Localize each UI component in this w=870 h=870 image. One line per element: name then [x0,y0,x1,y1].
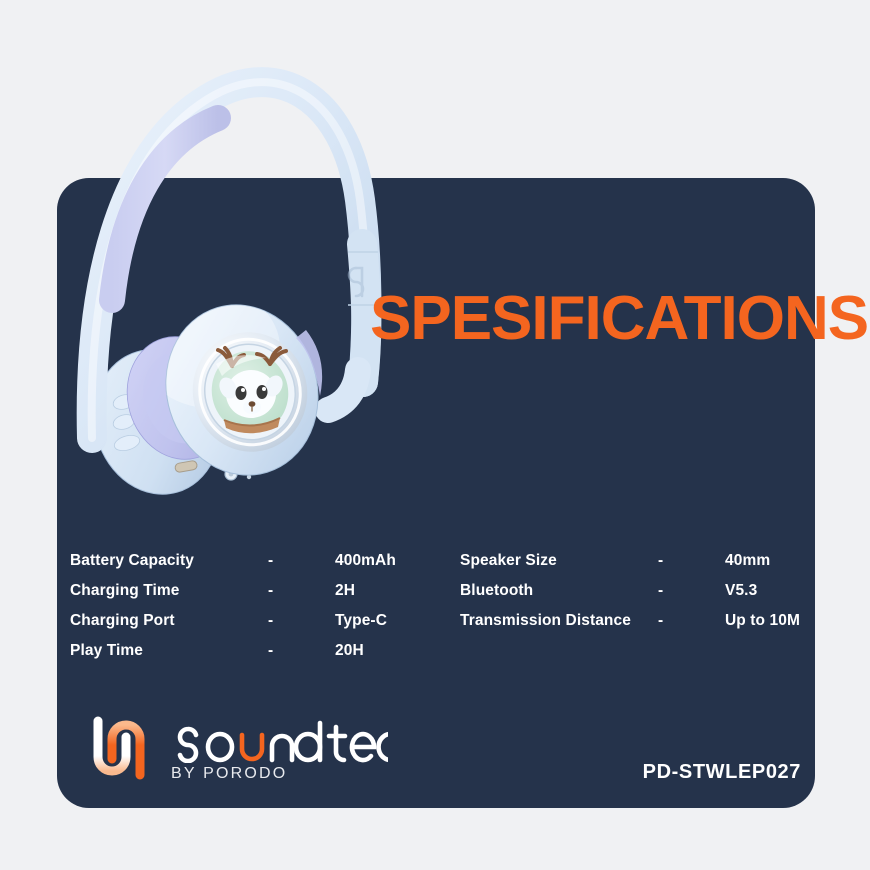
spec-row: Play Time - 20H [70,642,460,672]
spec-label: Battery Capacity [70,552,268,570]
spec-label: Charging Port [70,612,268,630]
soundtec-monogram-icon [88,713,150,783]
spec-label: Transmission Distance [460,612,658,630]
spec-column-left: Battery Capacity - 400mAh Charging Time … [70,552,460,672]
spec-label: Speaker Size [460,552,658,570]
spec-value: 2H [335,582,355,600]
spec-value: Type-C [335,612,387,630]
spec-row: Charging Time - 2H [70,582,460,612]
spec-row: Charging Port - Type-C [70,612,460,642]
spec-row: Bluetooth - V5.3 [460,582,810,612]
spec-separator: - [658,582,725,600]
spec-row: Battery Capacity - 400mAh [70,552,460,582]
spec-value: 40mm [725,552,770,570]
spec-column-right: Speaker Size - 40mm Bluetooth - V5.3 Tra… [460,552,810,642]
spec-value: 20H [335,642,364,660]
product-spec-poster: SPESIFICATIONS Battery Capacity - 400mAh… [0,0,870,870]
spec-label: Charging Time [70,582,268,600]
spec-row: Transmission Distance - Up to 10M [460,612,810,642]
brand-lockup: BY PORODO [88,713,388,783]
spec-separator: - [268,582,335,600]
spec-value: V5.3 [725,582,757,600]
model-number: PD-STWLEP027 [643,761,801,784]
spec-separator: - [658,612,725,630]
spec-separator: - [268,642,335,660]
spec-label: Bluetooth [460,582,658,600]
spec-separator: - [268,552,335,570]
brand-text: BY PORODO [168,717,388,783]
spec-separator: - [268,612,335,630]
page-title: SPESIFICATIONS [370,288,868,350]
spec-value: Up to 10M [725,612,800,630]
headband-cushion [112,118,218,300]
spec-value: 400mAh [335,552,396,570]
product-image [60,30,400,500]
spec-separator: - [658,552,725,570]
soundtec-wordmark [168,717,388,763]
spec-row: Speaker Size - 40mm [460,552,810,582]
brand-tagline: BY PORODO [168,765,388,783]
spec-label: Play Time [70,642,268,660]
